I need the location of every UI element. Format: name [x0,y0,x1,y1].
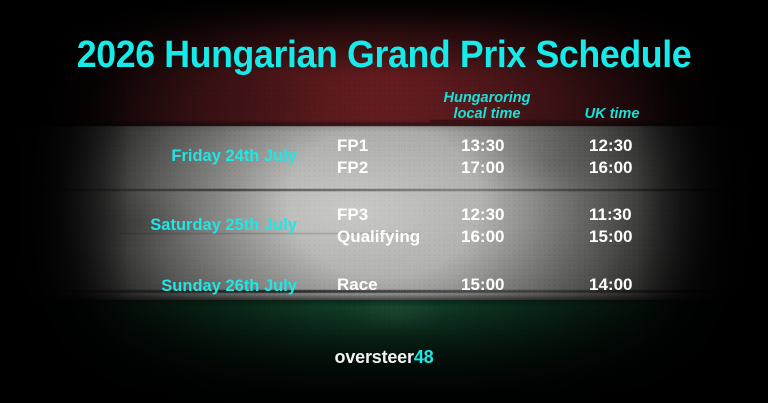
session-local-time: 17:00 [461,158,504,178]
brand-logo-word: oversteer [335,347,414,367]
day-label-saturday: Saturday 25th July [150,216,297,235]
day-label-friday: Friday 24th July [171,147,297,166]
session-name: FP3 [337,205,368,225]
session-name: Qualifying [337,227,420,247]
session-uk-time: 11:30 [589,205,632,225]
session-local-time: 15:00 [461,275,504,295]
session-name: FP1 [337,136,368,156]
column-header-local-time: Hungaroring local time [407,90,567,122]
brand-logo: oversteer48 [0,347,768,368]
day-label-sunday: Sunday 26th July [161,277,297,296]
session-local-time: 16:00 [461,227,504,247]
session-uk-time: 15:00 [589,227,632,247]
session-local-time: 12:30 [461,205,504,225]
session-name: Race [337,275,378,295]
session-uk-time: 14:00 [589,275,632,295]
session-name: FP2 [337,158,368,178]
session-uk-time: 16:00 [589,158,632,178]
page-title: 2026 Hungarian Grand Prix Schedule [23,34,745,77]
session-uk-time: 12:30 [589,136,632,156]
session-local-time: 13:30 [461,136,504,156]
schedule-poster: 2026 Hungarian Grand Prix Schedule Hunga… [0,0,768,403]
column-header-uk-time: UK time [562,106,662,122]
brand-logo-number: 48 [414,347,434,367]
